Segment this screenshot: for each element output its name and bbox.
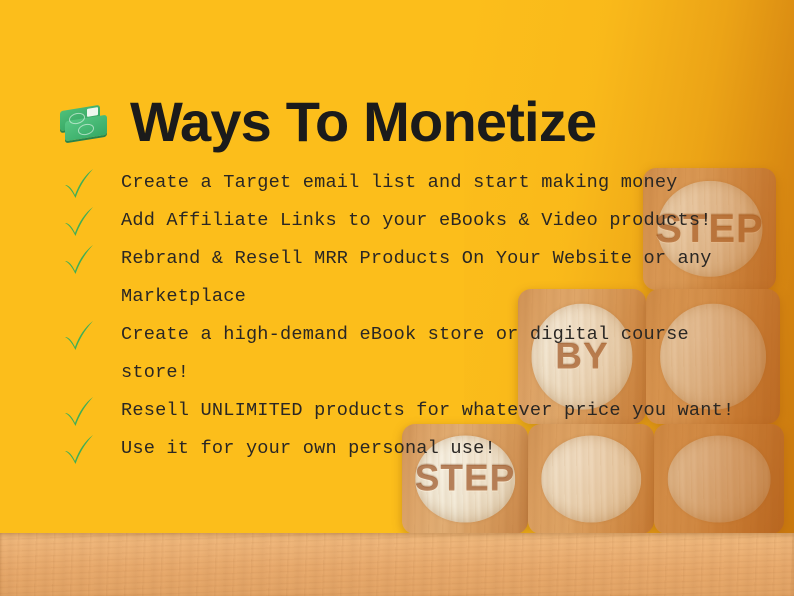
green-checkmark-icon: [61, 166, 97, 200]
list-item-text: Create a high-demand eBook store or digi…: [121, 316, 786, 392]
list-item-text: Rebrand & Resell MRR Products On Your We…: [121, 240, 786, 316]
list-item: Add Affiliate Links to your eBooks & Vid…: [56, 202, 786, 240]
list-item-text: Resell UNLIMITED products for whatever p…: [121, 392, 786, 430]
green-checkmark-icon: [61, 242, 97, 276]
list-item: Rebrand & Resell MRR Products On Your We…: [56, 240, 786, 316]
list-item: Resell UNLIMITED products for whatever p…: [56, 392, 786, 430]
green-checkmark-icon: [61, 318, 97, 352]
list-item: Use it for your own personal use!: [56, 430, 786, 468]
monetization-list: Create a Target email list and start mak…: [56, 164, 786, 468]
slide-canvas: STEP BY STEP: [0, 0, 794, 596]
list-item-text: Add Affiliate Links to your eBooks & Vid…: [121, 202, 786, 240]
slide-content: Ways To Monetize Create a Target email l…: [0, 0, 794, 596]
page-title: Ways To Monetize: [130, 94, 596, 150]
green-checkmark-icon: [61, 204, 97, 238]
money-stack-icon: [56, 100, 112, 144]
green-checkmark-icon: [61, 432, 97, 466]
list-item-text: Use it for your own personal use!: [121, 430, 786, 468]
list-item-text: Create a Target email list and start mak…: [121, 164, 786, 202]
green-checkmark-icon: [61, 394, 97, 428]
list-item: Create a Target email list and start mak…: [56, 164, 786, 202]
list-item: Create a high-demand eBook store or digi…: [56, 316, 786, 392]
